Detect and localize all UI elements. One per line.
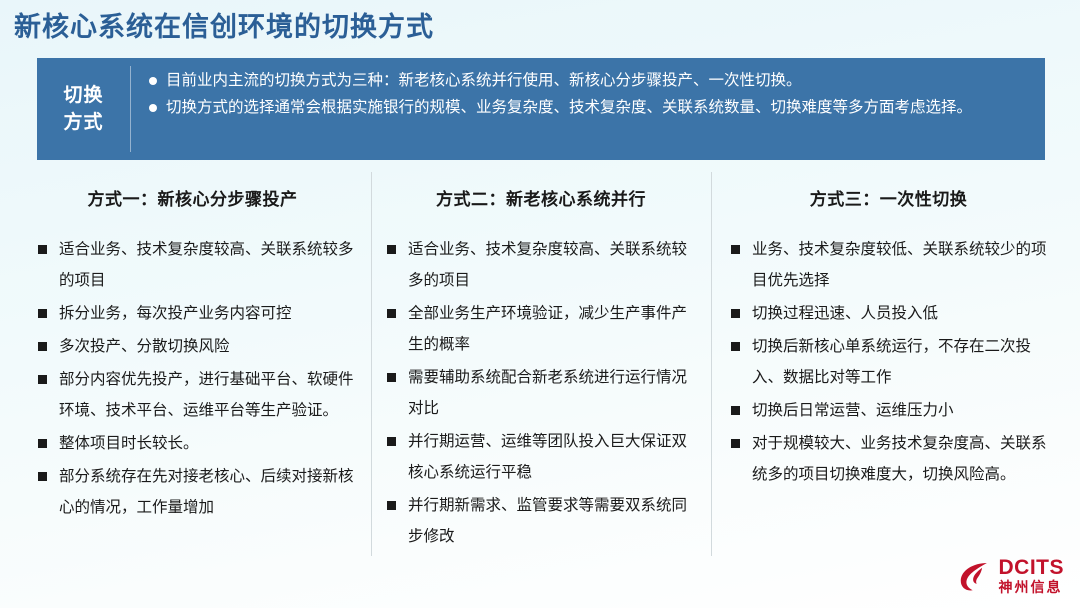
list-item-text: 多次投产、分散切换风险 — [59, 331, 357, 362]
list-item-text: 适合业务、技术复杂度较高、关联系统较多的项目 — [59, 234, 357, 296]
list-item-text: 全部业务生产环境验证，减少生产事件产生的概率 — [408, 298, 697, 360]
column-heading: 方式一：新核心分步骤投产 — [28, 172, 357, 212]
list-item-text: 切换后日常运营、运维压力小 — [752, 395, 1052, 426]
bullet-dot-icon — [149, 77, 157, 85]
summary-band: 切换 方式 目前业内主流的切换方式为三种：新老核心系统并行使用、新核心分步骤投产… — [37, 58, 1045, 160]
bullet-list: 适合业务、技术复杂度较高、关联系统较多的项目 全部业务生产环境验证，减少生产事件… — [385, 234, 697, 552]
column-method-one: 方式一：新核心分步骤投产 适合业务、技术复杂度较高、关联系统较多的项目 拆分业务… — [14, 172, 371, 556]
column-divider — [711, 172, 712, 556]
columns-container: 方式一：新核心分步骤投产 适合业务、技术复杂度较高、关联系统较多的项目 拆分业务… — [14, 172, 1066, 556]
company-logo: DCITS 神州信息 — [956, 556, 1065, 596]
list-item: 切换后日常运营、运维压力小 — [725, 395, 1052, 426]
list-item: 需要辅助系统配合新老系统进行运行情况对比 — [385, 362, 697, 424]
band-bullet-item: 目前业内主流的切换方式为三种：新老核心系统并行使用、新核心分步骤投产、一次性切换… — [149, 67, 1029, 94]
list-item-text: 业务、技术复杂度较低、关联系统较少的项目优先选择 — [752, 234, 1052, 296]
bullet-dot-icon — [149, 104, 157, 112]
list-item: 切换后新核心单系统运行，不存在二次投入、数据比对等工作 — [725, 331, 1052, 393]
list-item-text: 对于规模较大、业务技术复杂度高、关联系统多的项目切换难度大，切换风险高。 — [752, 428, 1052, 490]
column-heading: 方式二：新老核心系统并行 — [385, 172, 697, 212]
band-label: 切换 方式 — [37, 58, 130, 160]
square-bullet-icon — [731, 406, 740, 415]
logo-name-en: DCITS — [999, 557, 1065, 578]
band-label-line1: 切换 — [63, 82, 103, 109]
square-bullet-icon — [38, 245, 47, 254]
list-item: 适合业务、技术复杂度较高、关联系统较多的项目 — [385, 234, 697, 296]
list-item: 业务、技术复杂度较低、关联系统较少的项目优先选择 — [725, 234, 1052, 296]
logo-name-cn: 神州信息 — [999, 579, 1065, 596]
list-item-text: 并行期运营、运维等团队投入巨大保证双核心系统运行平稳 — [408, 426, 697, 488]
square-bullet-icon — [731, 439, 740, 448]
list-item: 全部业务生产环境验证，减少生产事件产生的概率 — [385, 298, 697, 360]
band-label-line2: 方式 — [63, 109, 103, 136]
square-bullet-icon — [38, 439, 47, 448]
list-item: 并行期新需求、监管要求等需要双系统同步修改 — [385, 490, 697, 552]
column-divider — [371, 172, 372, 556]
list-item: 多次投产、分散切换风险 — [28, 331, 357, 362]
square-bullet-icon — [731, 342, 740, 351]
page-title: 新核心系统在信创环境的切换方式 — [14, 8, 434, 46]
list-item-text: 并行期新需求、监管要求等需要双系统同步修改 — [408, 490, 697, 552]
column-method-three: 方式三：一次性切换 业务、技术复杂度较低、关联系统较少的项目优先选择 切换过程迅… — [711, 172, 1066, 556]
square-bullet-icon — [38, 472, 47, 481]
band-bullet-item: 切换方式的选择通常会根据实施银行的规模、业务复杂度、技术复杂度、关联系统数量、切… — [149, 94, 1029, 121]
band-bullet-text: 切换方式的选择通常会根据实施银行的规模、业务复杂度、技术复杂度、关联系统数量、切… — [166, 94, 1029, 121]
list-item: 并行期运营、运维等团队投入巨大保证双核心系统运行平稳 — [385, 426, 697, 488]
list-item-text: 适合业务、技术复杂度较高、关联系统较多的项目 — [408, 234, 697, 296]
square-bullet-icon — [387, 309, 396, 318]
slide-canvas: 新核心系统在信创环境的切换方式 切换 方式 目前业内主流的切换方式为三种：新老核… — [0, 0, 1080, 608]
list-item-text: 切换后新核心单系统运行，不存在二次投入、数据比对等工作 — [752, 331, 1052, 393]
list-item-text: 拆分业务，每次投产业务内容可控 — [59, 298, 357, 329]
list-item-text: 切换过程迅速、人员投入低 — [752, 298, 1052, 329]
list-item: 对于规模较大、业务技术复杂度高、关联系统多的项目切换难度大，切换风险高。 — [725, 428, 1052, 490]
column-heading: 方式三：一次性切换 — [725, 172, 1052, 212]
list-item: 整体项目时长较长。 — [28, 428, 357, 459]
list-item: 部分系统存在先对接老核心、后续对接新核心的情况，工作量增加 — [28, 461, 357, 523]
dcits-swirl-icon — [956, 557, 994, 595]
list-item-text: 需要辅助系统配合新老系统进行运行情况对比 — [408, 362, 697, 424]
band-body: 目前业内主流的切换方式为三种：新老核心系统并行使用、新核心分步骤投产、一次性切换… — [131, 58, 1045, 160]
list-item: 切换过程迅速、人员投入低 — [725, 298, 1052, 329]
square-bullet-icon — [731, 245, 740, 254]
square-bullet-icon — [38, 375, 47, 384]
bullet-list: 适合业务、技术复杂度较高、关联系统较多的项目 拆分业务，每次投产业务内容可控 多… — [28, 234, 357, 523]
band-bullet-text: 目前业内主流的切换方式为三种：新老核心系统并行使用、新核心分步骤投产、一次性切换… — [166, 67, 1029, 94]
list-item-text: 整体项目时长较长。 — [59, 428, 357, 459]
list-item: 部分内容优先投产，进行基础平台、软硬件环境、技术平台、运维平台等生产验证。 — [28, 364, 357, 426]
square-bullet-icon — [38, 342, 47, 351]
logo-text: DCITS 神州信息 — [999, 557, 1065, 596]
bullet-list: 业务、技术复杂度较低、关联系统较少的项目优先选择 切换过程迅速、人员投入低 切换… — [725, 234, 1052, 490]
square-bullet-icon — [387, 245, 396, 254]
column-method-two: 方式二：新老核心系统并行 适合业务、技术复杂度较高、关联系统较多的项目 全部业务… — [371, 172, 711, 556]
list-item-text: 部分内容优先投产，进行基础平台、软硬件环境、技术平台、运维平台等生产验证。 — [59, 364, 357, 426]
list-item: 拆分业务，每次投产业务内容可控 — [28, 298, 357, 329]
list-item-text: 部分系统存在先对接老核心、后续对接新核心的情况，工作量增加 — [59, 461, 357, 523]
square-bullet-icon — [731, 309, 740, 318]
square-bullet-icon — [387, 373, 396, 382]
square-bullet-icon — [387, 437, 396, 446]
square-bullet-icon — [387, 501, 396, 510]
list-item: 适合业务、技术复杂度较高、关联系统较多的项目 — [28, 234, 357, 296]
square-bullet-icon — [38, 309, 47, 318]
